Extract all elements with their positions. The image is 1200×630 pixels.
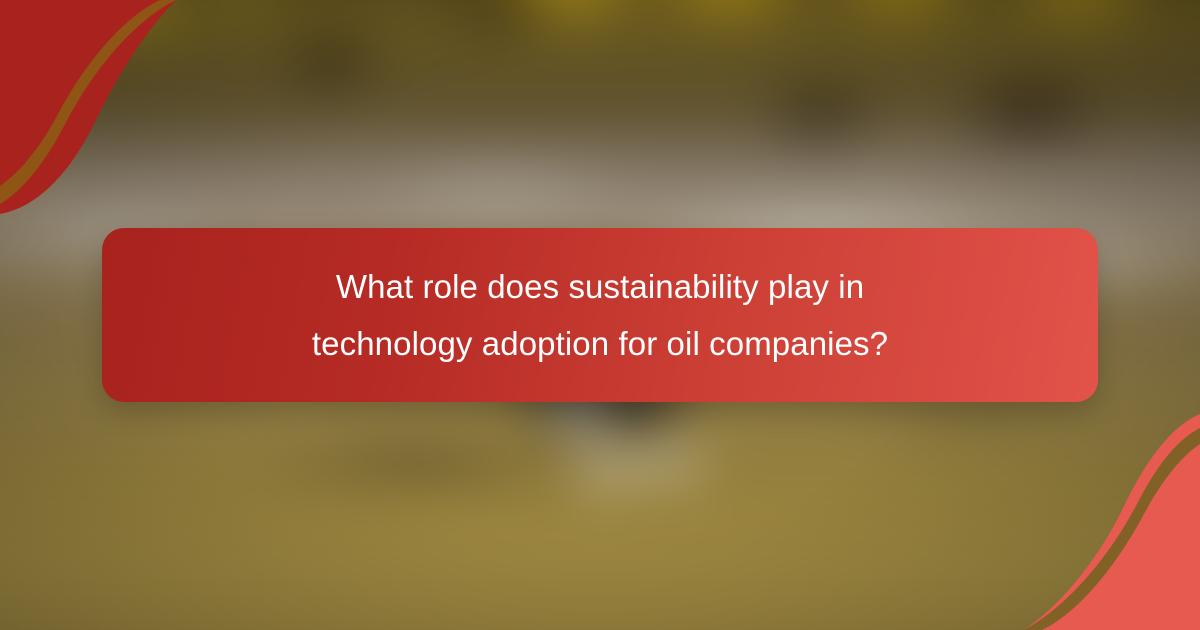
question-card: What role does sustainability play in te…	[102, 228, 1098, 402]
top-left-red-swoosh	[0, 0, 176, 214]
question-text: What role does sustainability play in te…	[260, 258, 940, 372]
bottom-right-coral-swoosh	[1024, 414, 1200, 630]
social-card-canvas: What role does sustainability play in te…	[0, 0, 1200, 630]
